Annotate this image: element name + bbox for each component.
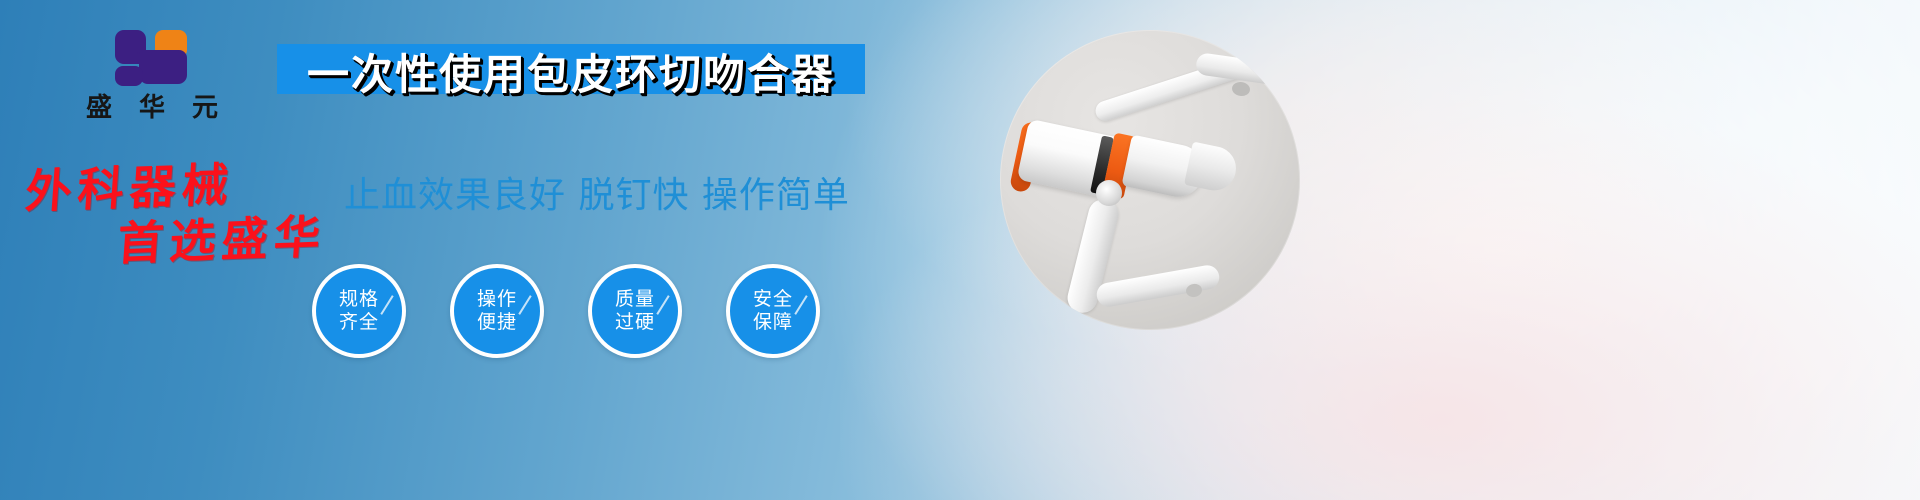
feature-badge-label-top: 规格 bbox=[339, 288, 379, 311]
feature-badge-safety[interactable]: 安全 保障 bbox=[726, 264, 820, 358]
brand-name: 盛 华 元 bbox=[62, 94, 242, 123]
feature-badge-list: 规格 齐全 操作 便捷 质量 过硬 安全 保障 bbox=[312, 264, 820, 358]
slash-decoration-icon bbox=[380, 295, 393, 315]
feature-badge-label-bottom: 便捷 bbox=[477, 311, 517, 334]
feature-badge-specifications[interactable]: 规格 齐全 bbox=[312, 264, 406, 358]
feature-badge-label-bottom: 保障 bbox=[753, 311, 793, 334]
product-banner: 盛 华 元 一次性使用包皮环切吻合器 外科器械 首选盛华 止血效果良好 脱钉快 … bbox=[0, 0, 1920, 500]
subtitle: 止血效果良好 脱钉快 操作简单 bbox=[344, 166, 850, 218]
device-lower-arm-hole bbox=[1185, 283, 1203, 299]
device-pivot bbox=[1096, 180, 1122, 206]
feature-badge-label-top: 质量 bbox=[615, 288, 655, 311]
brand-logo[interactable]: 盛 华 元 bbox=[62, 28, 242, 123]
feature-badge-label-bottom: 齐全 bbox=[339, 311, 379, 334]
slash-decoration-icon bbox=[656, 295, 669, 315]
slash-decoration-icon bbox=[518, 295, 531, 315]
feature-badge-quality[interactable]: 质量 过硬 bbox=[588, 264, 682, 358]
page-title: 一次性使用包皮环切吻合器 bbox=[307, 41, 835, 102]
brand-logo-icon bbox=[115, 28, 189, 86]
feature-badge-label-bottom: 过硬 bbox=[615, 311, 655, 334]
feature-badge-label-top: 操作 bbox=[477, 288, 517, 311]
title-bar: 一次性使用包皮环切吻合器 bbox=[277, 44, 865, 94]
device-upper-arm-hole bbox=[1231, 81, 1251, 97]
product-photo bbox=[1000, 30, 1300, 330]
slash-decoration-icon bbox=[794, 295, 807, 315]
logo-block-lower-right bbox=[139, 50, 187, 84]
feature-badge-label-top: 安全 bbox=[753, 288, 793, 311]
slogan-line-2: 首选盛华 bbox=[115, 200, 328, 273]
logo-block-lower-left bbox=[115, 66, 143, 86]
device-lower-arm-tail bbox=[1095, 263, 1221, 308]
feature-badge-operation[interactable]: 操作 便捷 bbox=[450, 264, 544, 358]
